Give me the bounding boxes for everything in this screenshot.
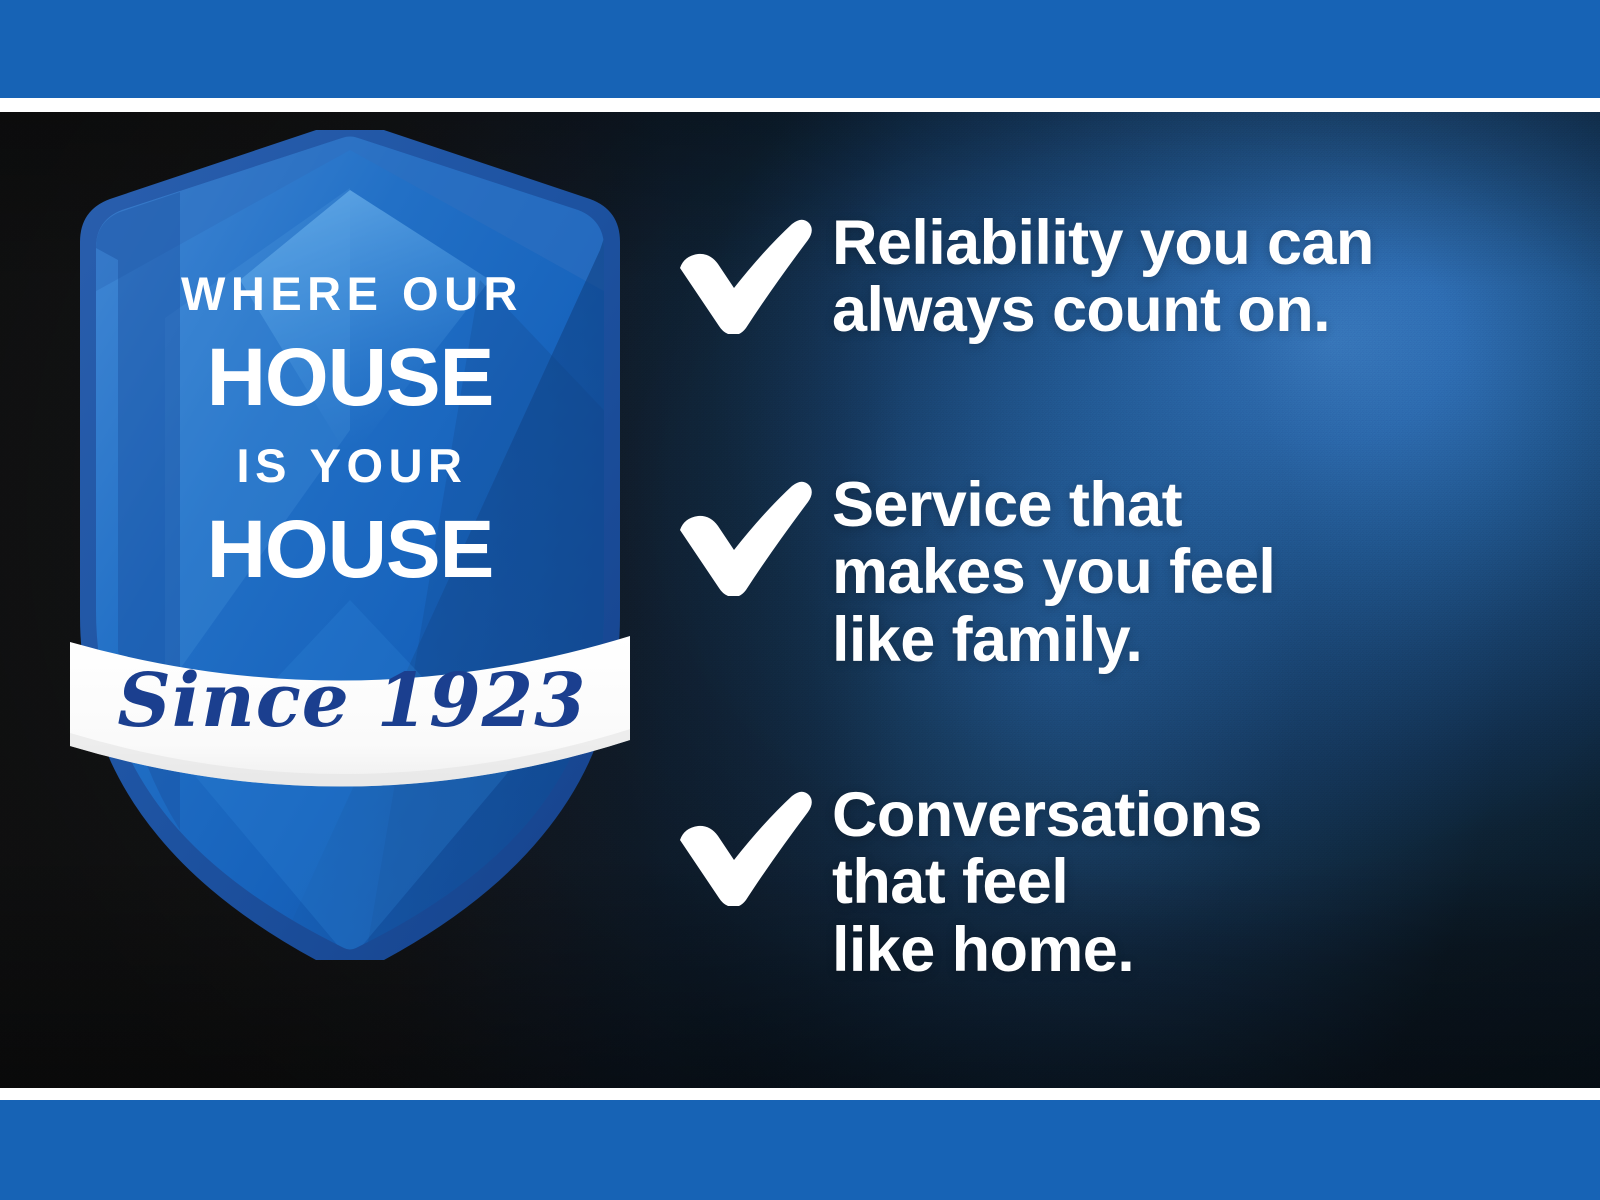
- benefit-item-reliability: Reliability you can always count on.: [668, 210, 1374, 345]
- logo-line-2: HOUSE: [207, 332, 494, 423]
- check-icon: [668, 782, 832, 906]
- logo-line-1: WHERE OUR: [181, 267, 523, 320]
- promo-graphic: WHERE OUR HOUSE IS YOUR HOUSE Since 1923: [0, 0, 1600, 1200]
- benefit-item-service: Service that makes you feel like family.: [668, 472, 1275, 674]
- since-banner-text: Since 1923: [117, 658, 586, 744]
- check-icon: [668, 210, 832, 334]
- shield-logo: WHERE OUR HOUSE IS YOUR HOUSE Since 1923: [60, 130, 640, 960]
- benefit-text: Reliability you can always count on.: [832, 210, 1374, 345]
- benefit-text: Conversations that feel like home.: [832, 782, 1262, 984]
- logo-line-4: HOUSE: [207, 504, 494, 595]
- top-brand-bar: [0, 0, 1600, 98]
- bottom-brand-bar: [0, 1100, 1600, 1200]
- logo-line-3: IS YOUR: [237, 439, 468, 492]
- check-icon: [668, 472, 832, 596]
- benefits-list: Reliability you can always count on. Ser…: [668, 112, 1508, 1088]
- benefit-text: Service that makes you feel like family.: [832, 472, 1275, 674]
- benefit-item-conversations: Conversations that feel like home.: [668, 782, 1262, 984]
